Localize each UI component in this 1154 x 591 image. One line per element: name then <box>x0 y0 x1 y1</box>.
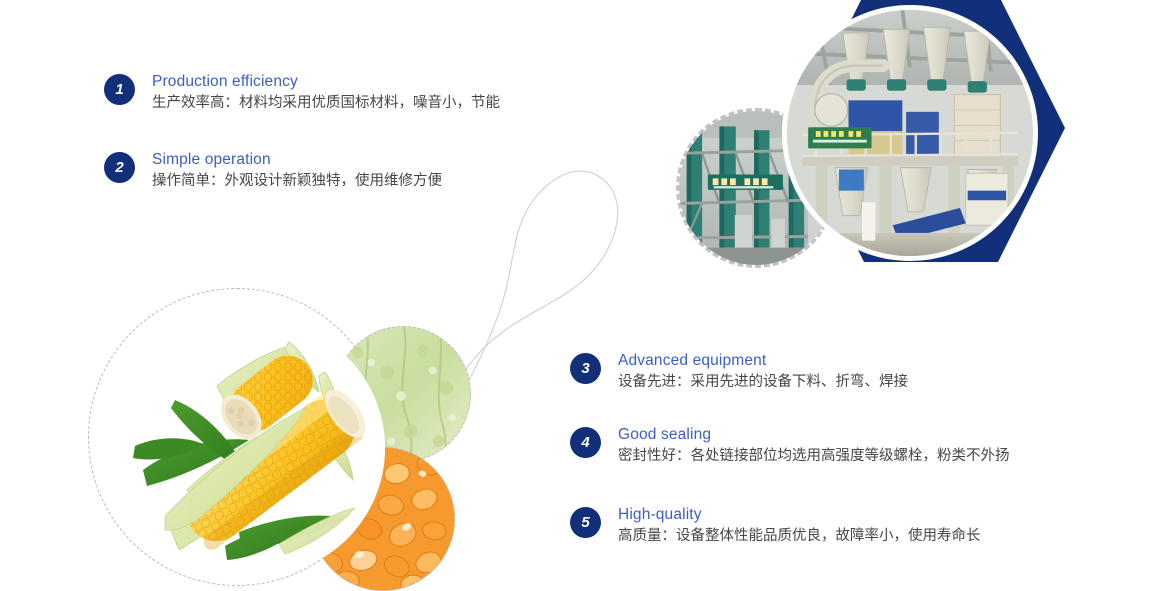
feature-description: 操作简单：外观设计新颖独特，使用维修方便 <box>152 171 442 192</box>
infographic-canvas: 1 Production efficiency 生产效率高：材料均采用优质国标材… <box>0 0 1154 591</box>
feature-title: Advanced equipment <box>618 351 908 370</box>
feature-item-5[interactable]: 5 High-quality 高质量：设备整体性能品质优良，故障率小，使用寿命长 <box>570 505 981 547</box>
feature-description: 高质量：设备整体性能品质优良，故障率小，使用寿命长 <box>618 526 981 547</box>
feature-title: Simple operation <box>152 150 442 169</box>
feature-description: 生产效率高：材料均采用优质国标材料，噪音小，节能 <box>152 93 500 114</box>
feature-item-2[interactable]: 2 Simple operation 操作简单：外观设计新颖独特，使用维修方便 <box>104 150 442 192</box>
feature-item-1[interactable]: 1 Production efficiency 生产效率高：材料均采用优质国标材… <box>104 72 500 114</box>
feature-description: 密封性好：各处链接部位均选用高强度等级螺栓，粉类不外扬 <box>618 446 1010 467</box>
corn-cob-photo <box>129 320 385 576</box>
flour-milling-plant-photo <box>782 5 1038 261</box>
feature-badge-number: 4 <box>570 427 601 458</box>
feature-badge-number: 3 <box>570 353 601 384</box>
feature-item-3[interactable]: 3 Advanced equipment 设备先进：采用先进的设备下料、折弯、焊… <box>570 351 908 393</box>
feature-item-4[interactable]: 4 Good sealing 密封性好：各处链接部位均选用高强度等级螺栓，粉类不… <box>570 425 1010 467</box>
feature-title: High-quality <box>618 505 981 524</box>
feature-badge-number: 5 <box>570 507 601 538</box>
feature-description: 设备先进：采用先进的设备下料、折弯、焊接 <box>618 372 908 393</box>
feature-title: Production efficiency <box>152 72 500 91</box>
feature-badge-number: 1 <box>104 74 135 105</box>
feature-badge-number: 2 <box>104 152 135 183</box>
feature-title: Good sealing <box>618 425 1010 444</box>
